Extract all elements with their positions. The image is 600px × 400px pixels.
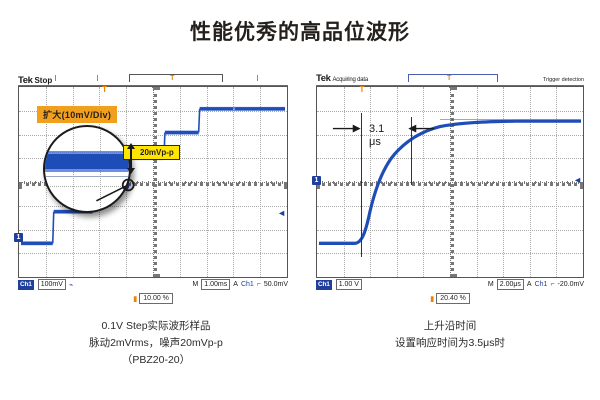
page-title: 性能优秀的高品位波形 (0, 16, 600, 46)
rise-time-value: 3.1 (369, 123, 384, 135)
channel-chip-left[interactable]: Ch1 (18, 280, 34, 290)
status-bar-right: Ch1 1.00 V M 2.00μs A Ch1 ⌐ -20.0mV (316, 279, 584, 290)
trigger-detection-status: Trigger detection (543, 76, 584, 85)
magnified-noise-band-edge2 (45, 169, 129, 172)
tek-logo: Tek (18, 75, 32, 86)
trigger-level-left[interactable]: 50.0mV (264, 281, 288, 288)
vertical-scale-right[interactable]: 1.00 V (336, 279, 362, 290)
tek-brand-status-right: TekAcquiring data (316, 74, 368, 85)
magnifier-lens (43, 125, 131, 213)
cursor-line-start[interactable] (361, 113, 362, 257)
horizontal-position-left: ▮ 10.00 % (18, 293, 288, 304)
caption-left-line-2: 脉动2mVrms，噪声20mVp-p (18, 335, 294, 352)
tek-brand-status-left: TekStop (18, 76, 52, 85)
timebase-ruler-right[interactable]: T (371, 73, 540, 85)
timebase-ruler-left[interactable]: T (55, 73, 285, 85)
timebase-right[interactable]: 2.00μs (497, 279, 524, 290)
trigger-source-right[interactable]: Ch1 (535, 281, 548, 288)
magnifier-reference-line (45, 176, 129, 177)
channel-chip-right[interactable]: Ch1 (316, 280, 332, 290)
oscilloscope-panel-left: TekStop T (18, 72, 288, 304)
oscilloscope-panel-right: TekAcquiring data T Trigger detection (316, 72, 584, 304)
acquisition-state: Acquiring data (332, 77, 368, 83)
cursor-line-end[interactable] (411, 117, 412, 185)
trigger-source-left[interactable]: Ch1 (241, 281, 254, 288)
magnified-noise-band-edge (45, 151, 129, 154)
vertical-scale-left[interactable]: 100mV (38, 279, 66, 290)
screenshot-root: 性能优秀的高品位波形 TekStop T (0, 0, 600, 400)
record-trigger-marker-right: T (447, 75, 451, 82)
noise-pp-label: 20mVp-p (123, 145, 180, 160)
caption-right-line-2: 设置响应时间为3.5μs时 (310, 335, 590, 352)
trigger-level-marker-right[interactable]: ◄ (573, 176, 582, 185)
ac-coupling-icon: ⌁ (69, 281, 73, 289)
timebase-left[interactable]: 1.00ms (201, 279, 230, 290)
rising-edge-icon: ⌐ (257, 281, 261, 288)
graticule-left[interactable]: 1 T ◄ (18, 86, 288, 278)
scope-header-left: TekStop T (18, 72, 288, 86)
record-trigger-marker-left: T (170, 75, 174, 82)
trigger-position-marker-left[interactable]: T (102, 86, 107, 94)
timebase-prefix-left: M (192, 281, 198, 288)
scope-header-right: TekAcquiring data T Trigger detection (316, 72, 584, 86)
position-percent-right[interactable]: 20.40 % (436, 293, 470, 304)
tek-logo: Tek (316, 73, 330, 84)
caption-left-line-3: （PBZ20-20） (18, 352, 294, 369)
caption-right: 上升沿时间 设置响应时间为3.5μs时 (310, 318, 590, 352)
graticule-right[interactable]: 3.1 μs 1 T ◄ (316, 86, 584, 278)
rise-time-unit: μs (369, 136, 381, 148)
horizontal-position-right: ▮ 20.40 % (316, 293, 584, 304)
caption-left: 0.1V Step实际波形样品 脉动2mVrms，噪声20mVp-p （PBZ2… (18, 318, 294, 369)
trigger-source-prefix-left: A (233, 281, 238, 288)
caption-right-line-1: 上升沿时间 (310, 318, 590, 335)
timebase-prefix-right: M (488, 281, 494, 288)
caption-left-line-1: 0.1V Step实际波形样品 (18, 318, 294, 335)
channel1-ground-marker-right[interactable]: 1 (312, 176, 321, 185)
acquisition-state: Stop (34, 76, 52, 85)
trigger-source-prefix-right: A (527, 281, 532, 288)
trigger-level-marker-left[interactable]: ◄ (277, 209, 286, 218)
status-bar-left: Ch1 100mV ⌁ M 1.00ms A Ch1 ⌐ 50.0mV (18, 279, 288, 290)
trigger-level-right[interactable]: -20.0mV (558, 281, 584, 288)
position-percent-left[interactable]: 10.00 % (139, 293, 173, 304)
rising-edge-icon: ⌐ (550, 281, 554, 288)
channel1-ground-marker-left[interactable]: 1 (14, 233, 23, 242)
zoom-scale-label: 扩大(10mV/Div) (37, 106, 117, 123)
position-marker-icon-right: ▮ (430, 294, 434, 303)
position-marker-icon-left: ▮ (133, 294, 137, 303)
waveform-trace-right (317, 87, 583, 277)
trigger-position-marker-right[interactable]: T (360, 86, 365, 94)
magnified-noise-band (45, 154, 129, 169)
